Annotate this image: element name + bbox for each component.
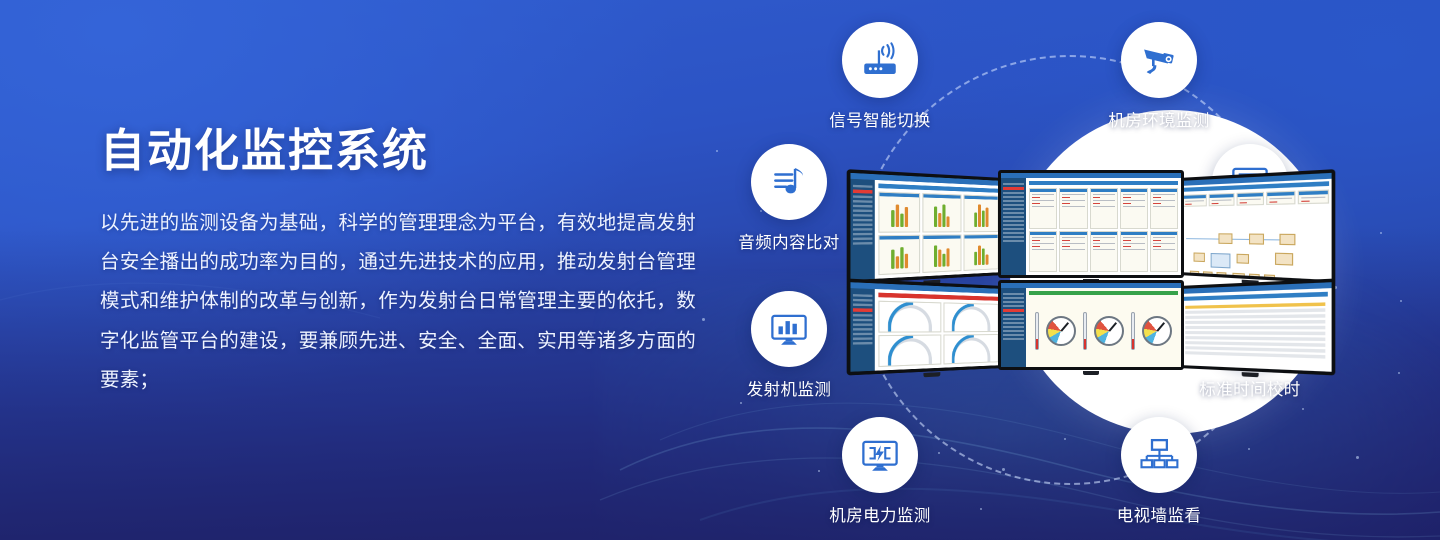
feature-label: 机房电力监测 [810,502,950,526]
feature-icon-circle [842,22,918,98]
router-signal-icon [859,39,901,81]
sitemap-icon [1138,434,1180,476]
text-block: 自动化监控系统 以先进的监测设备为基础，科学的管理理念为平台，有效地提高发射台安… [100,126,700,400]
monitor-screen[interactable] [998,170,1184,278]
feature-node-room-environment[interactable]: 机房环境监测 [1089,22,1229,131]
feature-node-tv-wall[interactable]: 电视墙监看 [1089,417,1229,526]
feature-icon-circle [1121,417,1197,493]
feature-node-transmitter-monitor[interactable]: 发射机监测 [719,291,859,400]
feature-node-audio-compare[interactable]: 音频内容比对 [719,144,859,253]
feature-label: 信号智能切换 [810,107,950,131]
feature-node-signal-switch[interactable]: 信号智能切换 [810,22,950,131]
feature-node-room-power[interactable]: 机房电力监测 [810,417,950,526]
monitor-wall [850,168,1330,368]
monitor-power-icon [859,434,901,476]
feature-label: 音频内容比对 [719,229,859,253]
page-title: 自动化监控系统 [100,126,700,176]
monitor-screen[interactable] [847,169,1004,284]
monitor-screen[interactable] [1178,279,1335,376]
monitor-screen[interactable] [998,280,1184,370]
page-description: 以先进的监测设备为基础，科学的管理理念为平台，有效地提高发射台安全播出的成功率为… [100,204,696,401]
music-note-icon [768,161,810,203]
feature-icon-circle [751,144,827,220]
feature-icon-circle [1121,22,1197,98]
feature-label: 电视墙监看 [1089,502,1229,526]
monitor-barchart-icon [768,308,810,350]
feature-cluster: 信号智能切换 机房环境监测 [700,0,1440,540]
banner-root: 自动化监控系统 以先进的监测设备为基础，科学的管理理念为平台，有效地提高发射台安… [0,0,1440,540]
feature-label: 发射机监测 [719,376,859,400]
monitor-screen[interactable] [1178,169,1335,284]
feature-label: 标准时间校时 [1180,376,1320,400]
feature-label: 机房环境监测 [1089,107,1229,131]
feature-icon-circle [751,291,827,367]
security-camera-icon [1138,39,1180,81]
monitor-screen[interactable] [847,279,1004,376]
feature-icon-circle [842,417,918,493]
